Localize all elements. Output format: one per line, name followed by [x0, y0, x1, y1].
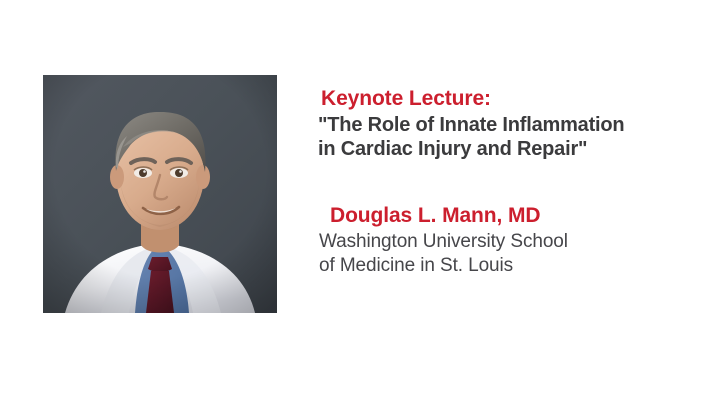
lecture-title: "The Role of Innate Inflammation in Card… [318, 113, 698, 161]
speaker-info: Douglas L. Mann, MD Washington Universit… [318, 203, 698, 278]
lecture-title-line-2: in Cardiac Injury and Repair" [318, 137, 698, 161]
lecture-info: Keynote Lecture: "The Role of Innate Inf… [318, 86, 698, 161]
keynote-lecture-kicker: Keynote Lecture: [321, 86, 698, 111]
portrait-illustration [43, 75, 277, 313]
keynote-lecture-slide: Keynote Lecture: "The Role of Innate Inf… [0, 0, 711, 400]
speaker-portrait [43, 75, 277, 313]
lecture-title-line-1: "The Role of Innate Inflammation [318, 113, 698, 137]
speaker-affiliation-line-2: of Medicine in St. Louis [319, 254, 698, 278]
portrait-photo [43, 75, 277, 313]
lecture-text-column: Keynote Lecture: "The Role of Innate Inf… [318, 86, 698, 278]
speaker-affiliation: Washington University School of Medicine… [319, 230, 698, 278]
speaker-name: Douglas L. Mann, MD [330, 203, 698, 228]
speaker-affiliation-line-1: Washington University School [319, 230, 698, 254]
